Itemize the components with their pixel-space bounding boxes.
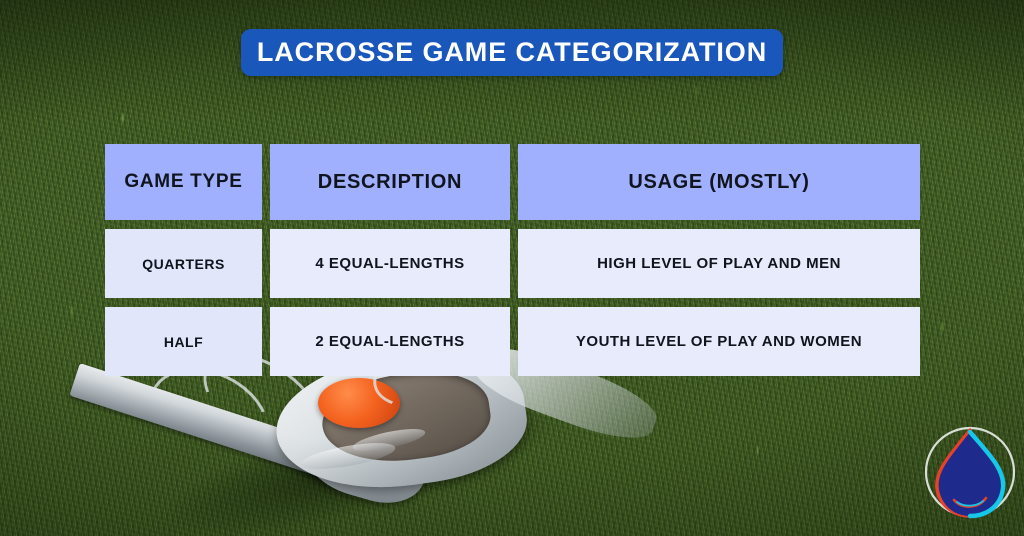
page-title: LACROSSE GAME CATEGORIZATION [257, 37, 767, 68]
table-row: HALF 2 EQUAL-LENGTHS YOUTH LEVEL OF PLAY… [105, 307, 920, 376]
infographic-canvas: LACROSSE GAME CATEGORIZATION GAME TYPE D… [0, 0, 1024, 536]
cell-description: 4 EQUAL-LENGTHS [270, 229, 510, 298]
title-banner: LACROSSE GAME CATEGORIZATION [241, 29, 783, 76]
table-row: QUARTERS 4 EQUAL-LENGTHS HIGH LEVEL OF P… [105, 229, 920, 298]
table-header-row: GAME TYPE DESCRIPTION USAGE (MOSTLY) [105, 144, 920, 220]
cell-game-type: QUARTERS [105, 229, 262, 298]
droplet-logo [921, 420, 1019, 524]
categorization-table: GAME TYPE DESCRIPTION USAGE (MOSTLY) QUA… [105, 144, 920, 376]
column-header-description: DESCRIPTION [270, 144, 510, 220]
cell-game-type: HALF [105, 307, 262, 376]
column-header-game-type: GAME TYPE [105, 144, 262, 220]
cell-usage: YOUTH LEVEL OF PLAY AND WOMEN [518, 307, 920, 376]
logo-droplet-fill [939, 432, 1003, 516]
cell-usage: HIGH LEVEL OF PLAY AND MEN [518, 229, 920, 298]
cell-description: 2 EQUAL-LENGTHS [270, 307, 510, 376]
column-header-usage: USAGE (MOSTLY) [518, 144, 920, 220]
